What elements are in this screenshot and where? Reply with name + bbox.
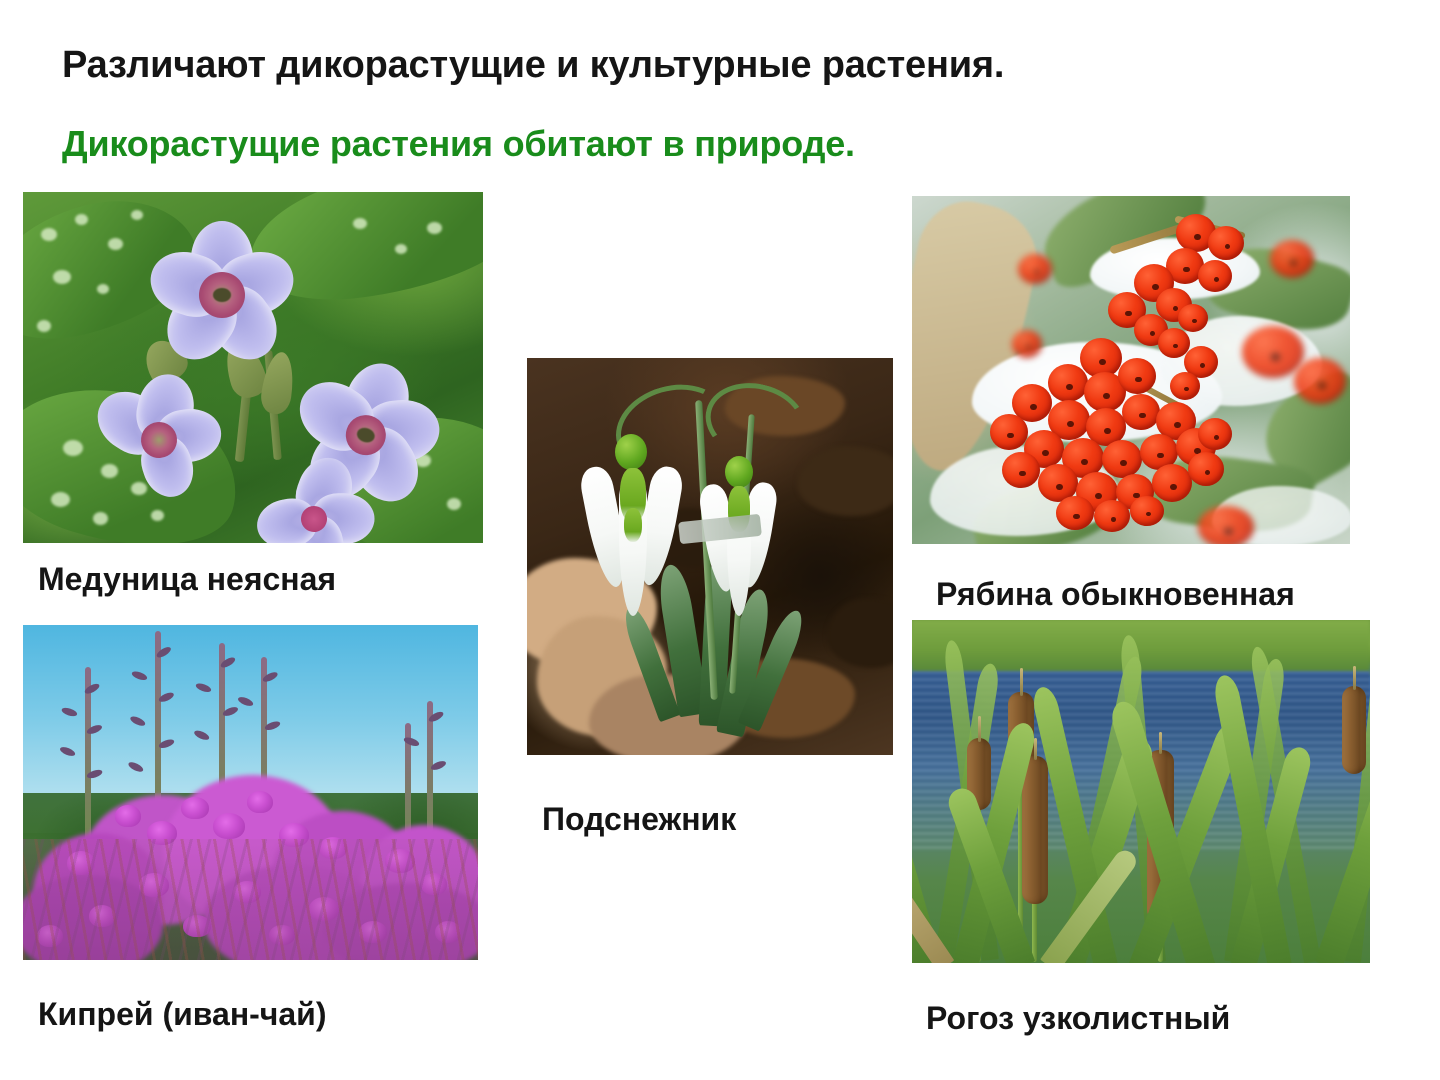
photo-fireweed xyxy=(23,625,478,960)
caption-cattail: Рогоз узколистный xyxy=(926,1000,1230,1037)
caption-fireweed: Кипрей (иван-чай) xyxy=(38,996,327,1033)
cattail-pond-background xyxy=(912,620,1370,963)
photo-rowan xyxy=(912,196,1350,544)
photo-snowdrop xyxy=(527,358,893,755)
caption-snowdrop: Подснежник xyxy=(542,801,736,838)
snowdrop-soil-background xyxy=(527,358,893,755)
page-subtitle: Дикорастущие растения обитают в природе. xyxy=(62,123,855,165)
caption-lungwort: Медуница неясная xyxy=(38,561,336,598)
lungwort-foliage-background xyxy=(23,192,483,543)
fireweed-meadow-background xyxy=(23,625,478,960)
photo-lungwort xyxy=(23,192,483,543)
photo-cattail xyxy=(912,620,1370,963)
slide-canvas: Различают дикорастущие и культурные раст… xyxy=(0,0,1440,1080)
page-title: Различают дикорастущие и культурные раст… xyxy=(62,44,1004,87)
rowan-winter-background xyxy=(912,196,1350,544)
caption-rowan: Рябина обыкновенная xyxy=(936,576,1295,613)
